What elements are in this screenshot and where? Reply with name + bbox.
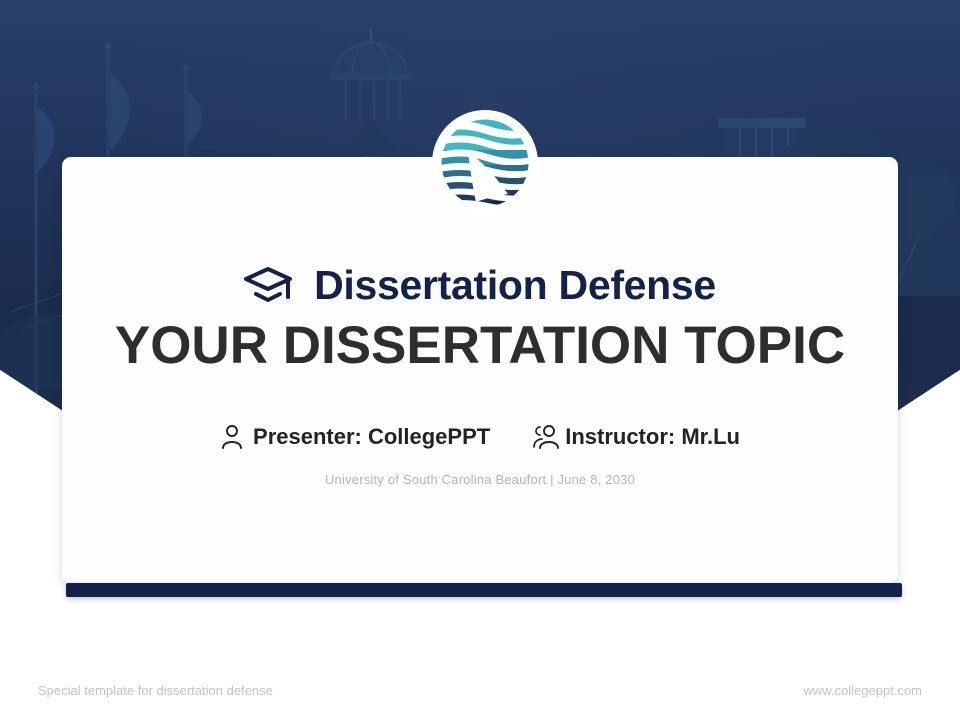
presenter-item: Presenter: CollegePPT: [220, 424, 490, 450]
footer-left-text: Special template for dissertation defens…: [38, 683, 273, 698]
university-and-date: University of South Carolina Beaufort | …: [325, 472, 635, 487]
people-row: Presenter: CollegePPT Instructor: Mr.Lu: [220, 424, 740, 450]
kicker-label: Dissertation Defense: [314, 265, 716, 306]
slide-footer: Special template for dissertation defens…: [0, 683, 960, 698]
presenter-label: Presenter: CollegePPT: [253, 424, 490, 450]
graduation-cap-icon: [244, 266, 296, 306]
instructor-item: Instructor: Mr.Lu: [532, 424, 740, 450]
kicker-row: Dissertation Defense: [244, 265, 716, 306]
footer-right-text: www.collegeppt.com: [804, 683, 923, 698]
card-bottom-accent-bar: [66, 583, 902, 597]
presentation-slide: Dissertation Defense YOUR DISSERTATION T…: [0, 0, 960, 720]
person-icon: [220, 424, 244, 450]
instructor-label: Instructor: Mr.Lu: [565, 424, 740, 450]
people-group-icon: [532, 424, 556, 450]
page-title: YOUR DISSERTATION TOPIC: [115, 319, 845, 372]
card-content: Dissertation Defense YOUR DISSERTATION T…: [62, 157, 898, 583]
